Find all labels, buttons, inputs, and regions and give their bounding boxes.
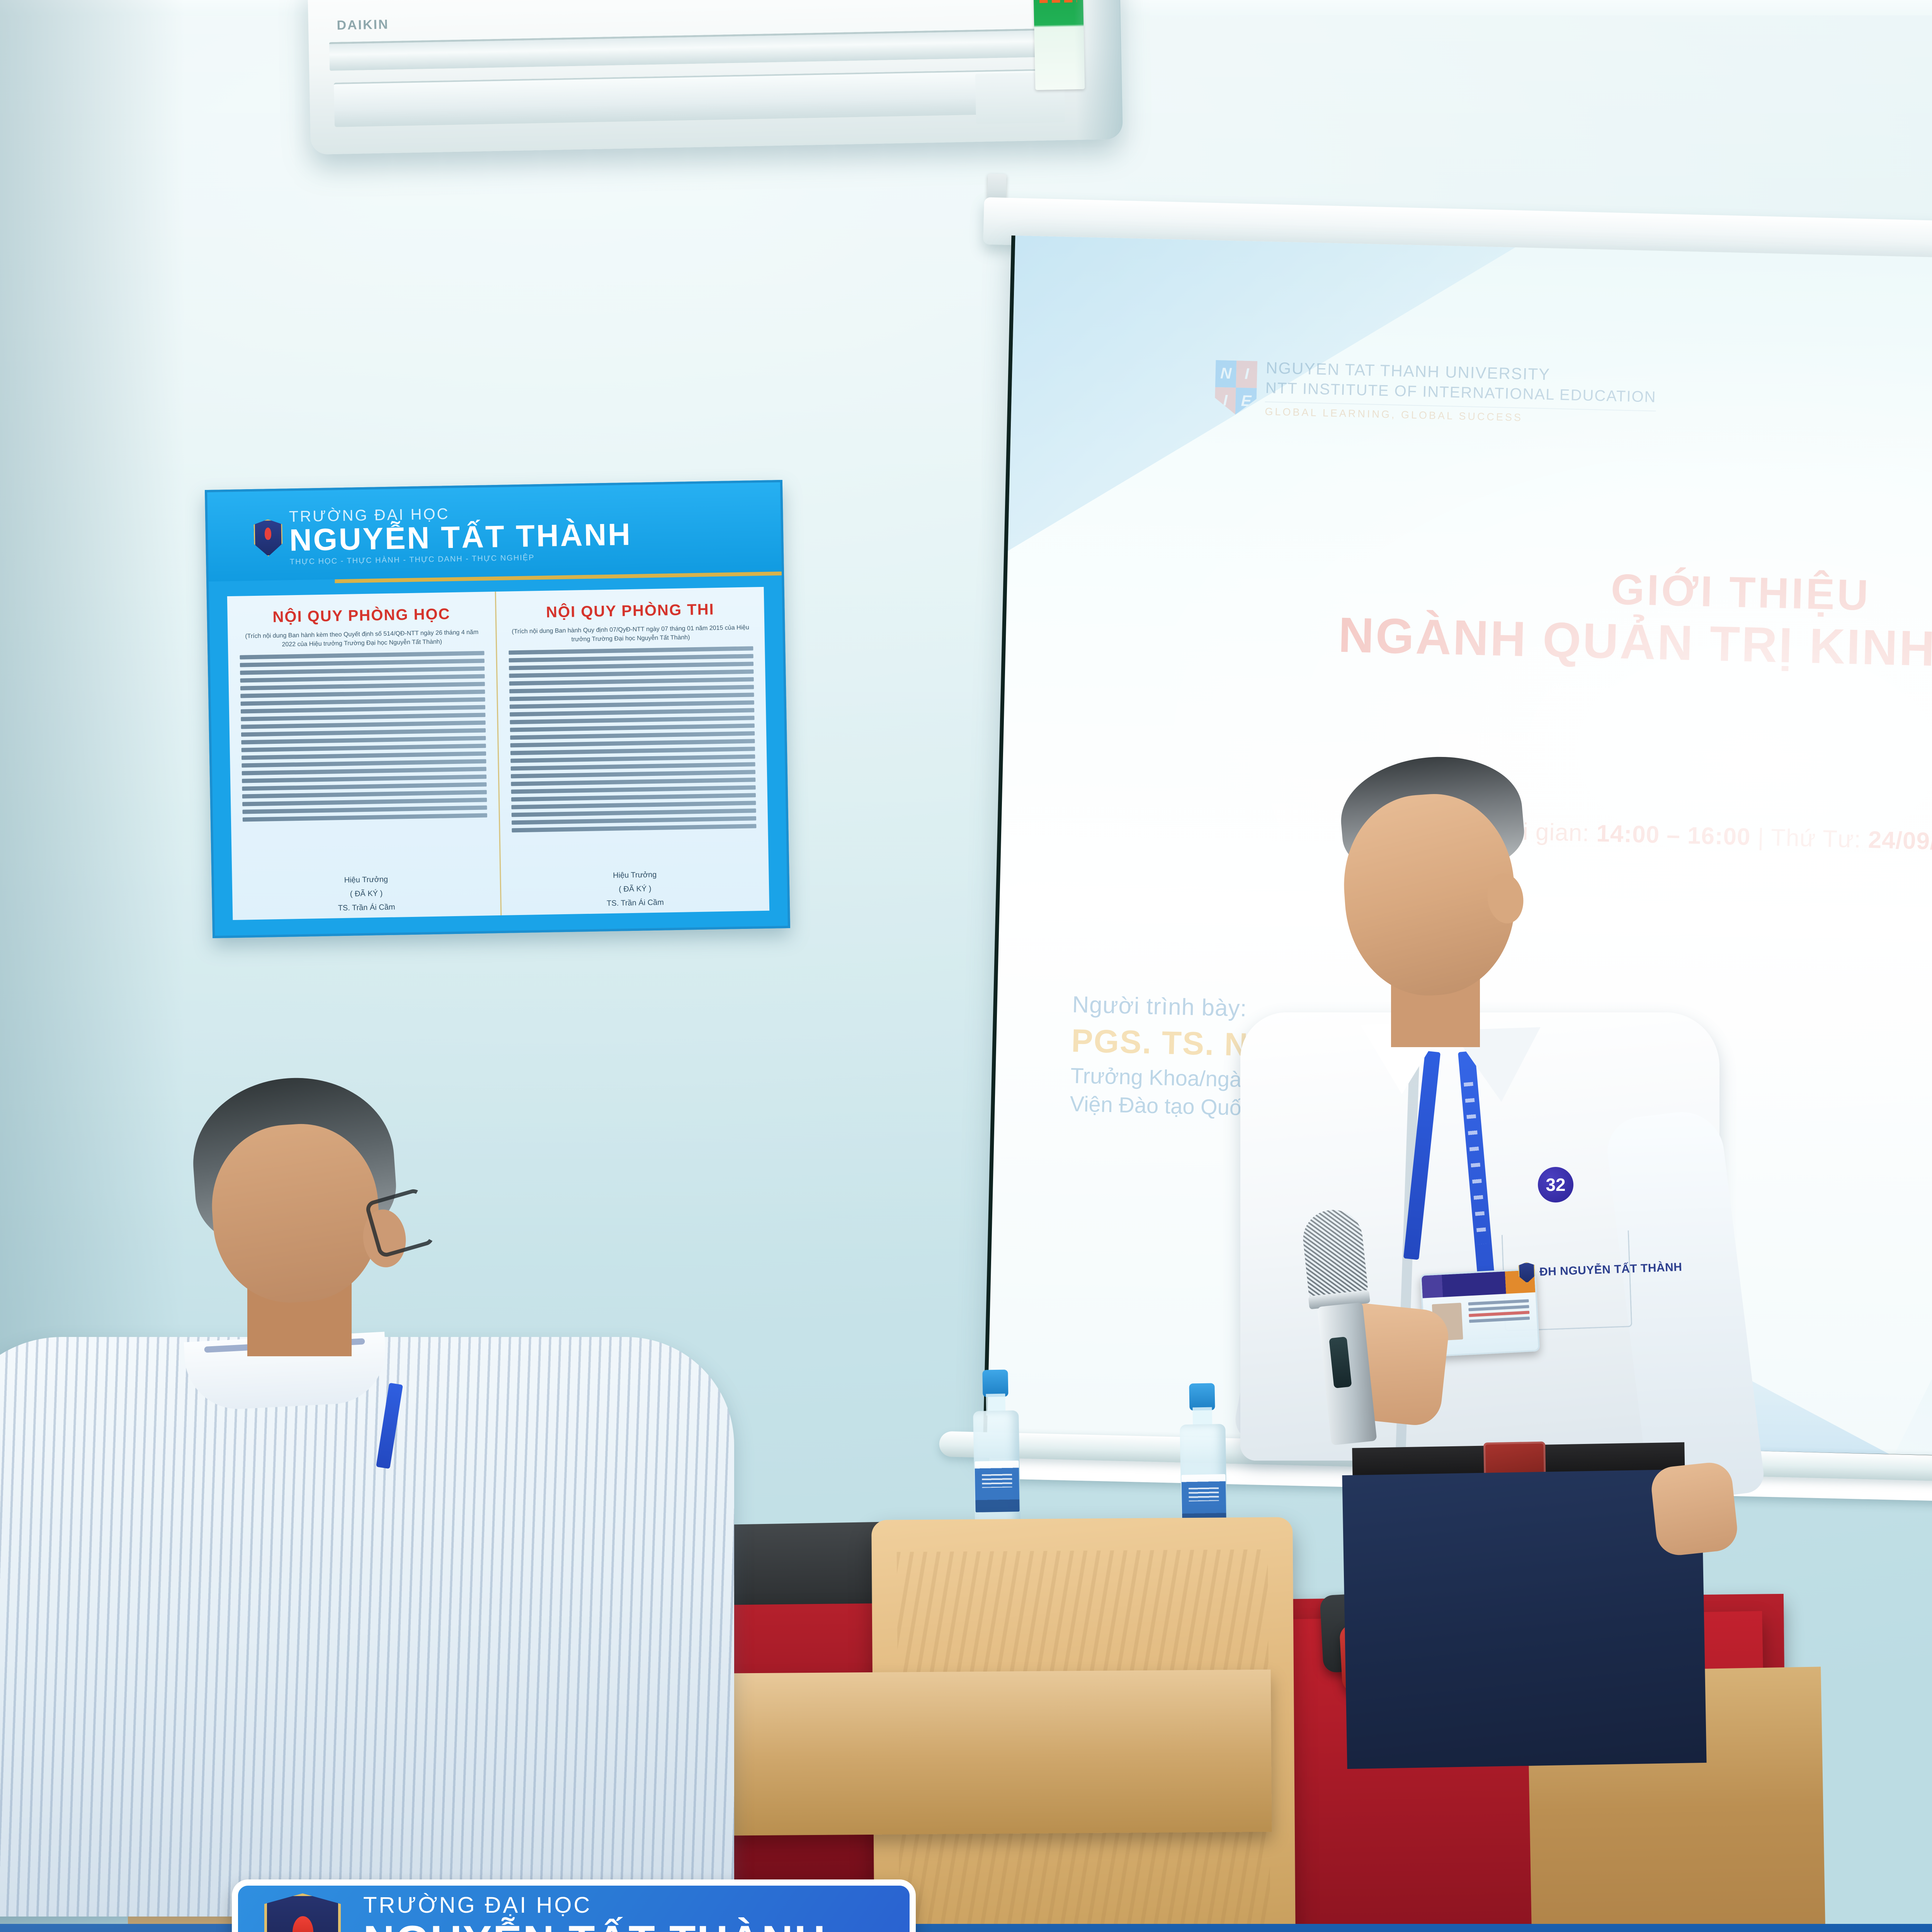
air-conditioner-vent xyxy=(329,28,1076,71)
notice-subtitle-classroom: (Trích nội dung Ban hành kèm theo Quyết … xyxy=(240,628,484,650)
shield-letter-n: N xyxy=(1215,360,1237,387)
shield-letter-i2: I xyxy=(1214,387,1236,414)
speaker-right-hand xyxy=(1650,1461,1740,1558)
air-conditioner-side-shadow xyxy=(1073,0,1123,140)
notice-title-exam: NỘI QUY PHÒNG THI xyxy=(508,600,752,622)
wall-notice-board: TRƯỜNG ĐẠI HỌC NGUYỄN TẤT THÀNH THỰC HỌC… xyxy=(205,480,790,938)
shield-letter-e: E xyxy=(1235,388,1257,415)
photo-canvas: DAIKIN TRƯỜNG ĐẠI HỌC NGUYỄN TẤT THÀNH T… xyxy=(0,0,1932,1932)
ntt-university-crest-icon: NTT UNIVERSITY NGUYEN TAT THANH xyxy=(256,1891,350,1932)
notice-column-exam: NỘI QUY PHÒNG THI (Trích nội dung Ban hà… xyxy=(495,587,769,915)
notice-board-content: NỘI QUY PHÒNG HỌC (Trích nội dung Ban hà… xyxy=(227,587,769,920)
attendee-striped-shirt xyxy=(0,1337,734,1917)
seated-attendee xyxy=(0,1066,773,1917)
notice-title-classroom: NỘI QUY PHÒNG HỌC xyxy=(239,605,484,626)
notice-signature-classroom: Hiệu Trưởng ( ĐÃ KÝ ) TS. Trần Ái Cầm xyxy=(232,871,500,917)
ntt-crest-icon xyxy=(253,519,283,556)
footer-contact-group: www.ntt.edu.vn 1900 2039 xyxy=(1168,1924,1932,1932)
slide-logo: N I I E NGUYEN TAT THANH UNIVERSITY NTT … xyxy=(1214,357,1657,427)
notice-subtitle-exam: (Trích nội dung Ban hành Quy định 07/QyĐ… xyxy=(508,623,753,645)
footer-brand-line2: NGUYỄN TẤT THÀNH xyxy=(363,1918,827,1932)
slide-shape-bottom-right xyxy=(1887,912,1932,1488)
notice-body-lines-exam xyxy=(509,646,756,833)
speaker-trousers xyxy=(1342,1469,1706,1769)
microphone-grille xyxy=(1300,1207,1369,1302)
speaker-shirt-embroidery-text: ĐH NGUYỄN TẤT THÀNH xyxy=(1539,1261,1682,1279)
footer-brand-line1: TRƯỜNG ĐẠI HỌC xyxy=(363,1893,827,1917)
ntt-mini-crest-icon xyxy=(1518,1262,1535,1283)
slide-date-value: 24/09/2025 xyxy=(1868,827,1932,856)
niie-shield-icon: N I I E xyxy=(1214,360,1257,415)
air-conditioner-flap xyxy=(334,69,1049,127)
footer-university-brand-card: NTT UNIVERSITY NGUYEN TAT THANH TRƯỜNG Đ… xyxy=(232,1879,916,1932)
notice-signature-exam: Hiệu Trưởng ( ĐÃ KÝ ) TS. Trần Ái Cầm xyxy=(501,866,769,912)
shield-letter-i1: I xyxy=(1236,361,1258,388)
footer-brand-text: TRƯỜNG ĐẠI HỌC NGUYỄN TẤT THÀNH THỰC HỌC… xyxy=(363,1893,827,1932)
speaker-shirt-number-badge: 32 xyxy=(1538,1167,1573,1202)
air-conditioner: DAIKIN xyxy=(308,0,1122,155)
slide-title: GIỚI THIỆU NGÀNH QUẢN TRỊ KINH DOANH xyxy=(1072,553,1932,688)
notice-body-lines-classroom xyxy=(240,651,487,822)
notice-column-classroom: NỘI QUY PHÒNG HỌC (Trích nội dung Ban hà… xyxy=(227,592,500,920)
air-conditioner-brand-label: DAIKIN xyxy=(337,17,389,33)
water-bottle-left xyxy=(972,1369,1020,1532)
notice-board-header: TRƯỜNG ĐẠI HỌC NGUYỄN TẤT THÀNH THỰC HỌC… xyxy=(207,482,782,585)
board-header-line2: NGUYỄN TẤT THÀNH xyxy=(289,519,632,556)
